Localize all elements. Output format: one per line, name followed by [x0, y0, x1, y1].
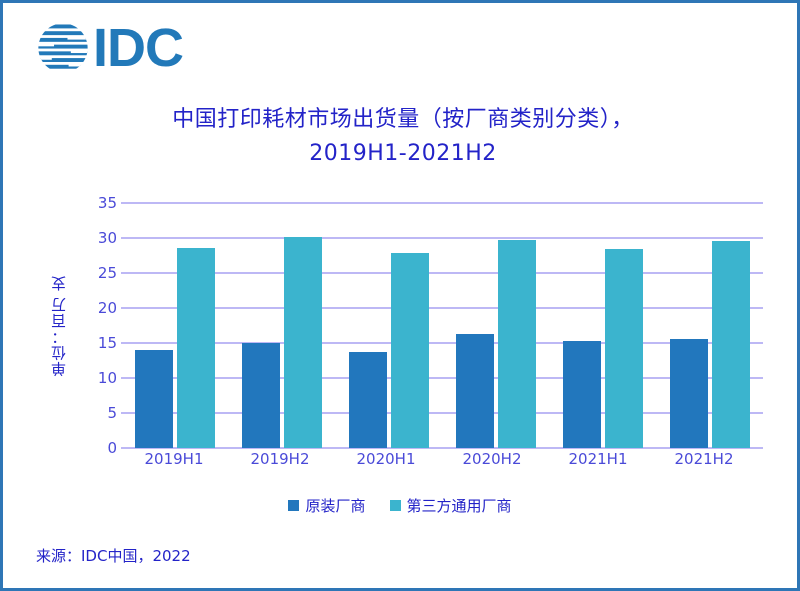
- y-axis-tick-label: 15: [98, 334, 117, 352]
- bar[interactable]: [605, 249, 643, 448]
- x-axis-tick-label: 2019H2: [227, 450, 333, 468]
- bar[interactable]: [498, 240, 536, 448]
- y-axis-tick-label: 10: [98, 369, 117, 387]
- bar-group: [442, 203, 549, 448]
- chart-title-line-1: 中国打印耗材市场出货量（按厂商类别分类），: [63, 103, 743, 137]
- y-axis-tick-label: 20: [98, 299, 117, 317]
- x-axis-labels: 2019H12019H22020H12020H22021H12021H2: [121, 450, 757, 468]
- bar[interactable]: [563, 341, 601, 448]
- y-axis-tick-label: 35: [98, 194, 117, 212]
- bar-group: [549, 203, 656, 448]
- y-axis-tick-label: 5: [107, 404, 117, 422]
- chart-page: IDC 中国打印耗材市场出货量（按厂商类别分类）， 2019H1-2021H2 …: [0, 0, 800, 591]
- bar[interactable]: [242, 343, 280, 448]
- x-axis-tick-label: 2020H2: [439, 450, 545, 468]
- bar[interactable]: [284, 237, 322, 448]
- chart-title: 中国打印耗材市场出货量（按厂商类别分类）， 2019H1-2021H2: [63, 103, 743, 171]
- bar[interactable]: [177, 248, 215, 448]
- legend-item[interactable]: 第三方通用厂商: [390, 495, 512, 516]
- y-axis-ticks: 05101520253035: [78, 203, 121, 448]
- source-note: 来源：IDC中国，2022: [36, 545, 191, 566]
- idc-logo-text: IDC: [93, 20, 183, 76]
- bar[interactable]: [670, 339, 708, 448]
- legend-swatch: [390, 500, 401, 511]
- chart-legend: 原装厂商第三方通用厂商: [3, 495, 797, 516]
- legend-label: 原装厂商: [305, 495, 365, 516]
- bar[interactable]: [391, 253, 429, 448]
- chart-plot-frame: 单位：百万 支 05101520253035: [48, 203, 763, 448]
- bar-group: [656, 203, 763, 448]
- bar[interactable]: [349, 352, 387, 448]
- x-axis-tick-label: 2021H2: [651, 450, 757, 468]
- x-axis-tick-label: 2020H1: [333, 450, 439, 468]
- y-axis-title-label: 单位：百万 支: [48, 275, 69, 377]
- bar[interactable]: [135, 350, 173, 448]
- bar[interactable]: [712, 241, 750, 448]
- bar-groups: [121, 203, 763, 448]
- y-axis-tick-label: 30: [98, 229, 117, 247]
- legend-swatch: [288, 500, 299, 511]
- bar-group: [228, 203, 335, 448]
- bar-group: [335, 203, 442, 448]
- legend-label: 第三方通用厂商: [407, 495, 512, 516]
- y-axis-title: 单位：百万 支: [43, 203, 73, 448]
- idc-globe-icon: [35, 20, 91, 76]
- bar-group: [121, 203, 228, 448]
- bar[interactable]: [456, 334, 494, 448]
- idc-logo: IDC: [35, 17, 183, 79]
- x-axis-tick-label: 2019H1: [121, 450, 227, 468]
- plot-area: [121, 203, 763, 448]
- chart-title-line-2: 2019H1-2021H2: [63, 137, 743, 171]
- y-axis-tick-label: 0: [107, 439, 117, 457]
- x-axis-tick-label: 2021H1: [545, 450, 651, 468]
- legend-item[interactable]: 原装厂商: [288, 495, 365, 516]
- y-axis-tick-label: 25: [98, 264, 117, 282]
